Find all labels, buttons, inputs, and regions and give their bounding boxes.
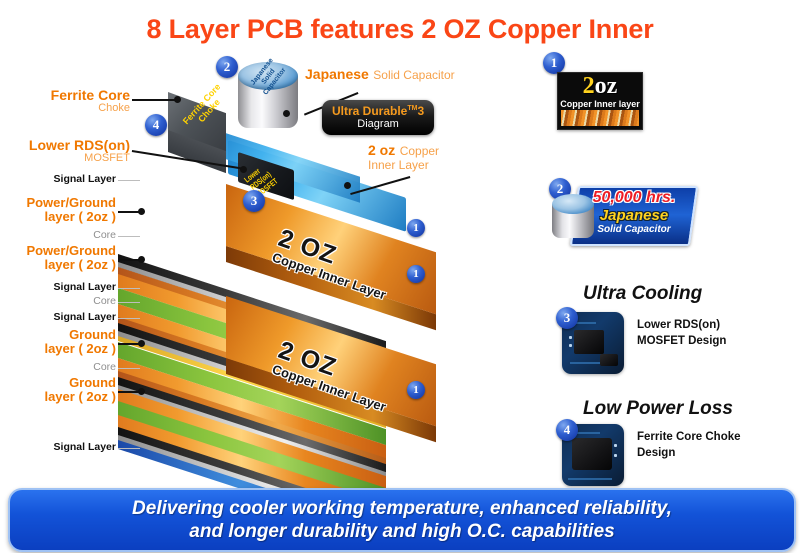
leader-core-1 — [118, 236, 140, 237]
leader-signal-3 — [118, 318, 140, 319]
callout-lower-rds: Lower RDS(on) MOSFET — [10, 138, 130, 165]
desc-ultra-cooling: Lower RDS(on) MOSFET Design — [637, 318, 726, 349]
oz-badge-caption: Copper Inner layer — [558, 99, 642, 109]
badge-1-diagram-b[interactable]: 1 — [407, 265, 425, 283]
leader-dot-g-2 — [138, 388, 145, 395]
leader-dot-ferrite — [174, 96, 181, 103]
leader-dot-capacitor — [283, 110, 290, 117]
leader-signal-4 — [118, 448, 140, 449]
leader-ground-1 — [118, 343, 140, 345]
section-title-low-power-loss: Low Power Loss — [583, 398, 733, 420]
two-oz-copper-badge: 2oz Copper Inner layer — [557, 72, 643, 130]
oz-badge-title: 2oz — [558, 74, 642, 98]
stack-label-ground-2: Ground layer ( 2oz ) — [8, 376, 116, 404]
badge-2-diagram[interactable]: 2 — [216, 56, 238, 78]
banner-line-1: Delivering cooler working temperature, e… — [132, 497, 672, 520]
leader-power-ground-2 — [118, 259, 140, 261]
stack-label-ground-1: Ground layer ( 2oz ) — [8, 328, 116, 356]
ultra-durable-callout: Ultra DurableTM3 Diagram — [322, 100, 434, 135]
leader-signal-1 — [118, 180, 140, 181]
solder-pad — [569, 344, 572, 347]
leader-dot-g-1 — [138, 340, 145, 347]
japanese-capacitor-badge: 50,000 hrs. Japanese Solid Capacitor — [540, 186, 690, 244]
leader-ferrite — [132, 99, 176, 101]
section-title-ultra-cooling: Ultra Cooling — [583, 283, 702, 305]
badge-3-panel[interactable]: 3 — [556, 307, 578, 329]
copper-texture-strip — [561, 110, 639, 126]
stack-label-core-2: Core — [20, 296, 116, 307]
ultra-durable-line1: Ultra DurableTM3 — [332, 104, 424, 118]
mosfet-chip — [574, 330, 604, 354]
stack-label-signal-2: Signal Layer — [20, 282, 116, 293]
callout-two-oz-copper: 2 oz Copper Inner Layer — [368, 142, 439, 172]
solder-pad — [569, 336, 572, 339]
leader-core-3 — [118, 368, 140, 369]
solder-pad — [614, 454, 617, 457]
leader-dot-pg-2 — [138, 256, 145, 263]
leader-ground-2 — [118, 391, 140, 393]
jp-badge-type: Solid Capacitor — [582, 224, 686, 235]
badge-1-diagram-a[interactable]: 1 — [407, 219, 425, 237]
ultra-durable-line2: Diagram — [332, 118, 424, 130]
leader-core-2 — [118, 302, 140, 303]
solder-pad — [614, 444, 617, 447]
leader-dot-two-oz — [344, 182, 351, 189]
leader-power-ground-1 — [118, 211, 140, 213]
badge-4-panel[interactable]: 4 — [556, 419, 578, 441]
leader-dot-pg-1 — [138, 208, 145, 215]
japanese-solid-capacitor-component: Japanese Solid Capacitor — [238, 62, 298, 128]
stack-label-signal-1: Signal Layer — [20, 174, 116, 185]
callout-japanese-capacitor: Japanese Solid Capacitor — [305, 66, 455, 83]
badge-1-diagram-c[interactable]: 1 — [407, 381, 425, 399]
bottom-banner: Delivering cooler working temperature, e… — [8, 488, 796, 552]
badge-3-diagram[interactable]: 3 — [243, 190, 265, 212]
slide-canvas: 8 Layer PCB features 2 OZ Copper Inner 2… — [0, 0, 800, 553]
jp-badge-hours: 50,000 hrs. — [582, 189, 686, 207]
mosfet-chip-small — [600, 354, 618, 366]
stack-label-signal-3: Signal Layer — [20, 312, 116, 323]
stack-label-core-1: Core — [20, 230, 116, 241]
desc-low-power-loss: Ferrite Core Choke Design — [637, 430, 741, 461]
ferrite-choke-chip — [572, 438, 612, 470]
page-title: 8 Layer PCB features 2 OZ Copper Inner — [0, 14, 800, 45]
callout-ferrite-core: Ferrite Core Choke — [10, 88, 130, 115]
stack-label-signal-4: Signal Layer — [20, 442, 116, 453]
leader-dot-rds — [240, 166, 247, 173]
badge-1-panel[interactable]: 1 — [543, 52, 565, 74]
stack-label-power-ground-2: Power/Ground layer ( 2oz ) — [8, 244, 116, 272]
jp-badge-country: Japanese — [582, 207, 686, 224]
leader-signal-2 — [118, 288, 140, 289]
banner-line-2: and longer durability and high O.C. capa… — [189, 520, 614, 543]
pcb-trace — [568, 478, 612, 480]
stack-label-core-3: Core — [20, 362, 116, 373]
badge-4-diagram[interactable]: 4 — [145, 114, 167, 136]
stack-label-power-ground-1: Power/Ground layer ( 2oz ) — [8, 196, 116, 224]
